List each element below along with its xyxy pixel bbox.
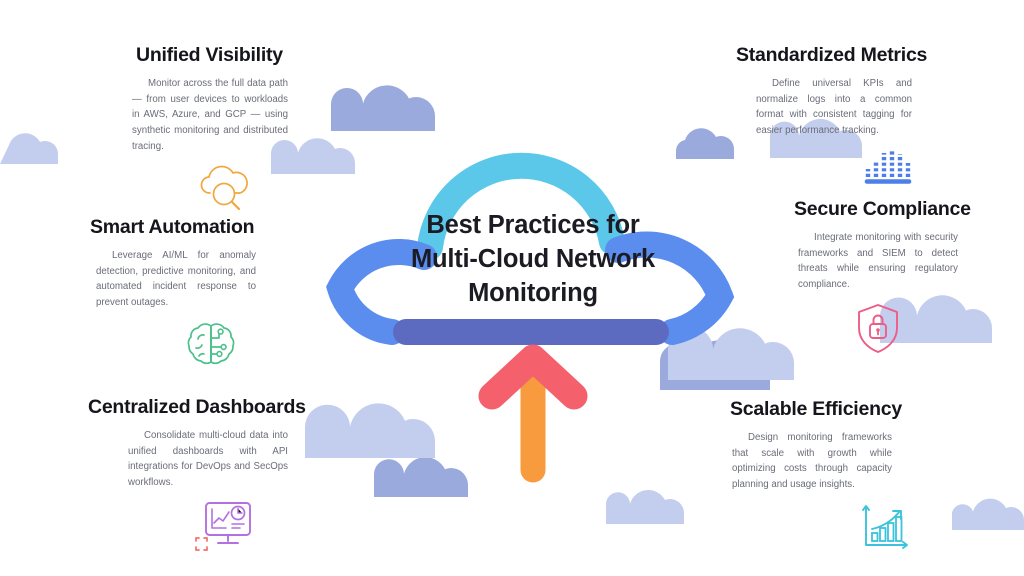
cloud-search-icon bbox=[194, 161, 254, 215]
page-title: Best Practices for Multi-Cloud Network M… bbox=[368, 208, 698, 310]
cloud-light-left-edge bbox=[0, 133, 58, 164]
section-unified-visibility: Unified Visibility Monitor across the fu… bbox=[92, 44, 288, 221]
section-centralized-dashboards: Centralized Dashboards Consolidate multi… bbox=[88, 396, 300, 557]
section-standardized-metrics: Standardized Metrics Define universal KP… bbox=[736, 44, 932, 205]
icon-slot-unified-visibility bbox=[92, 159, 288, 221]
section-body-secure-compliance: Integrate monitoring with security frame… bbox=[798, 230, 958, 293]
section-body-scalable-efficiency: Design monitoring frameworks that scale … bbox=[732, 430, 892, 493]
icon-slot-smart-automation bbox=[90, 315, 258, 377]
shield-lock-icon bbox=[852, 299, 904, 355]
section-heading-unified-visibility: Unified Visibility bbox=[92, 44, 288, 67]
icon-slot-secure-compliance bbox=[794, 297, 960, 359]
section-body-centralized-dashboards: Consolidate multi-cloud data into unifie… bbox=[128, 428, 288, 491]
growth-chart-icon bbox=[856, 503, 914, 555]
section-secure-compliance: Secure Compliance Integrate monitoring w… bbox=[794, 198, 960, 359]
section-body-unified-visibility: Monitor across the full data path — from… bbox=[132, 76, 288, 155]
section-body-standardized-metrics: Define universal KPIs and normalize logs… bbox=[756, 76, 912, 139]
icon-slot-scalable-efficiency bbox=[730, 497, 926, 559]
section-body-smart-automation: Leverage AI/ML for anomaly detection, pr… bbox=[96, 248, 256, 311]
brain-circuit-icon bbox=[182, 317, 240, 373]
section-scalable-efficiency: Scalable Efficiency Design monitoring fr… bbox=[730, 398, 926, 559]
bar-chart-icon bbox=[860, 143, 918, 193]
section-heading-secure-compliance: Secure Compliance bbox=[794, 198, 960, 221]
page-title-line-3: Monitoring bbox=[368, 276, 698, 310]
section-heading-scalable-efficiency: Scalable Efficiency bbox=[730, 398, 926, 421]
cloud-light-bottom-far-right bbox=[952, 499, 1024, 530]
icon-slot-centralized-dashboards bbox=[88, 495, 300, 557]
section-heading-centralized-dashboards: Centralized Dashboards bbox=[88, 396, 300, 419]
page-title-line-1: Best Practices for bbox=[368, 208, 698, 242]
section-heading-standardized-metrics: Standardized Metrics bbox=[736, 44, 932, 67]
section-smart-automation: Smart Automation Leverage AI/ML for anom… bbox=[90, 216, 258, 377]
icon-slot-standardized-metrics bbox=[736, 143, 932, 205]
page-title-line-2: Multi-Cloud Network bbox=[368, 242, 698, 276]
infographic-canvas: Best Practices for Multi-Cloud Network M… bbox=[0, 0, 1024, 576]
dashboard-monitor-icon bbox=[192, 497, 256, 555]
section-heading-smart-automation: Smart Automation bbox=[90, 216, 258, 239]
